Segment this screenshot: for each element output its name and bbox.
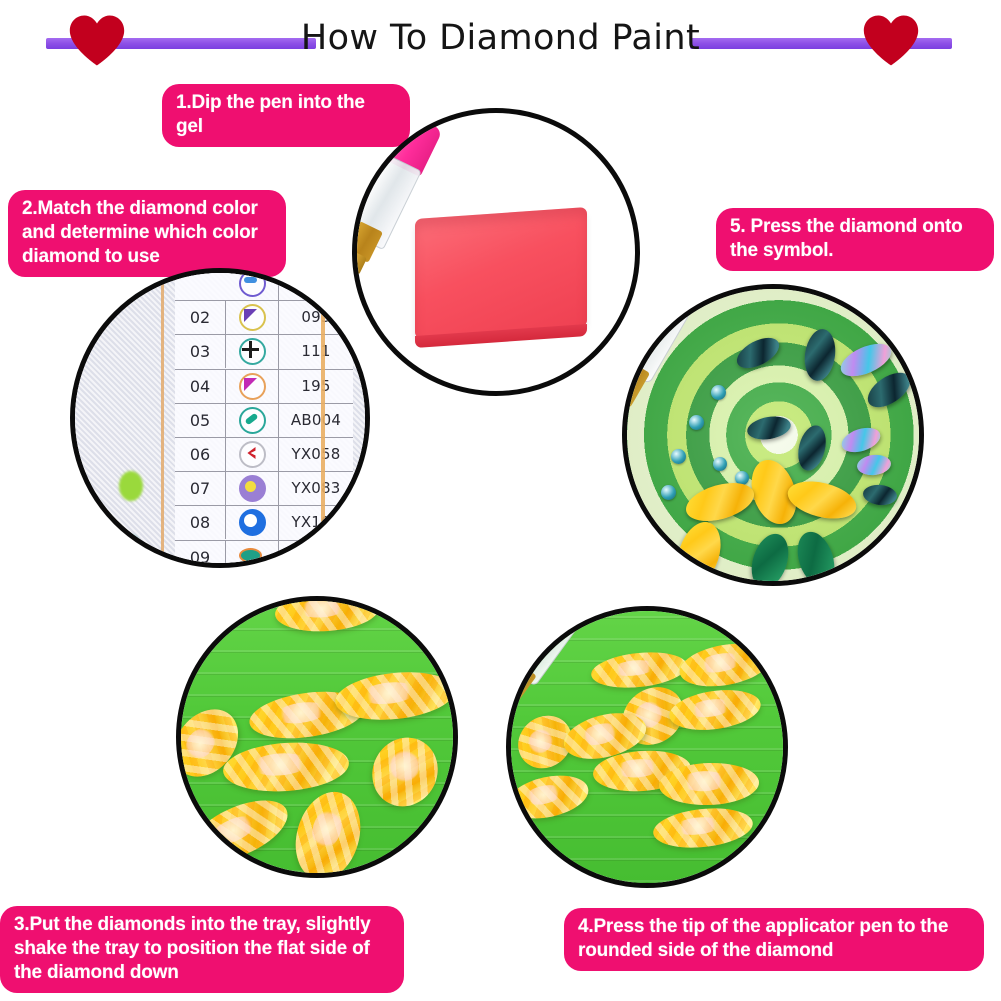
chart-row-symbol-cell: [226, 438, 279, 471]
color-chart-row: 09YX125: [175, 541, 353, 569]
yellow-diamond: [221, 739, 350, 796]
chart-row-number: 03: [175, 335, 226, 368]
color-chart-row: 04195: [175, 370, 353, 404]
chart-row-symbol-cell: [226, 472, 279, 505]
chart-row-code: YX125: [279, 541, 353, 568]
chart-row-symbol-cell: [226, 404, 279, 437]
step-4-photo-circle: [506, 606, 788, 888]
canvas-gem: [711, 385, 726, 400]
color-chart-table: 02802093031110419505AB00406YX05807YX0830…: [175, 268, 353, 568]
chart-row-code: YX106: [279, 506, 353, 539]
page-title: How To Diamond Paint: [0, 16, 1001, 60]
chart-row-number: 08: [175, 506, 226, 539]
chart-row-code: 111: [279, 335, 353, 368]
chart-row-code: AB004: [279, 404, 353, 437]
canvas-gem: [671, 449, 686, 464]
plus-symbol: [239, 338, 266, 365]
color-chart-row: 05AB004: [175, 404, 353, 438]
color-chart-row: 06YX058: [175, 438, 353, 472]
step-4-label: 4.Press the tip of the applicator pen to…: [564, 908, 984, 971]
triangle-symbol: [239, 304, 266, 331]
chevron-symbol: [239, 441, 266, 468]
chart-row-number: 05: [175, 404, 226, 437]
chart-row-symbol-cell: [226, 541, 279, 569]
color-chart-row: 07YX083: [175, 472, 353, 506]
canvas-gem: [661, 485, 676, 500]
triangle-symbol: [239, 373, 266, 400]
chart-row-number: 04: [175, 370, 226, 403]
step-1-photo-circle: [352, 108, 640, 396]
chart-row-symbol-cell: [226, 301, 279, 334]
pen-picking-diamond-photo: [511, 611, 783, 883]
color-chart-row: 08YX106: [175, 506, 353, 540]
ring-symbol: [239, 509, 266, 536]
dot-in-ring-symbol: [239, 475, 266, 502]
step-2-label: 2.Match the diamond color and determine …: [8, 190, 286, 277]
pen-tip: [506, 696, 510, 724]
chart-row-number: 02: [175, 301, 226, 334]
chart-row-code: YX083: [279, 472, 353, 505]
color-chart-row: 02093: [175, 301, 353, 335]
gel-pad: [415, 207, 587, 339]
chart-row-symbol-cell: [226, 370, 279, 403]
color-chart-row: 028: [175, 268, 353, 301]
chart-row-code: 028: [279, 268, 353, 300]
dots-symbol: [239, 270, 266, 297]
chart-row-code: 093: [279, 301, 353, 334]
guide-line: [161, 273, 164, 563]
placing-diamond-on-canvas-photo: [627, 289, 919, 581]
canvas-gem: [689, 415, 704, 430]
chart-row-symbol-cell: [226, 268, 279, 300]
color-chart-row: 03111: [175, 335, 353, 369]
page-header: How To Diamond Paint: [0, 0, 1001, 78]
diamonds-in-tray-photo: [181, 601, 453, 873]
chart-row-number: 09: [175, 541, 226, 568]
yellow-diamond: [658, 761, 759, 806]
canvas-color-blob: [119, 471, 143, 501]
canvas-color-blob: [121, 535, 139, 551]
canvas-gem: [713, 457, 727, 471]
chart-row-code: 195: [279, 370, 353, 403]
pen-dipping-into-gel-photo: [357, 113, 635, 391]
step-5-photo-circle: [622, 284, 924, 586]
guide-line: [321, 273, 325, 563]
pill-symbol: [239, 407, 266, 434]
color-chart-legend-photo: 02802093031110419505AB00406YX05807YX0830…: [75, 273, 365, 563]
step-3-photo-circle: [176, 596, 458, 878]
marquise-leaf-symbol: [241, 546, 264, 568]
chart-row-symbol-cell: [226, 335, 279, 368]
chart-row-number: 06: [175, 438, 226, 471]
chart-row-symbol-cell: [226, 506, 279, 539]
step-5-label: 5. Press the diamond onto the symbol.: [716, 208, 994, 271]
chart-row-number: 07: [175, 472, 226, 505]
step-2-photo-circle: 02802093031110419505AB00406YX05807YX0830…: [70, 268, 370, 568]
step-3-label: 3.Put the diamonds into the tray, slight…: [0, 906, 404, 993]
chart-row-code: YX058: [279, 438, 353, 471]
infographic-page: How To Diamond Paint 1.Dip the pen into …: [0, 0, 1001, 1001]
